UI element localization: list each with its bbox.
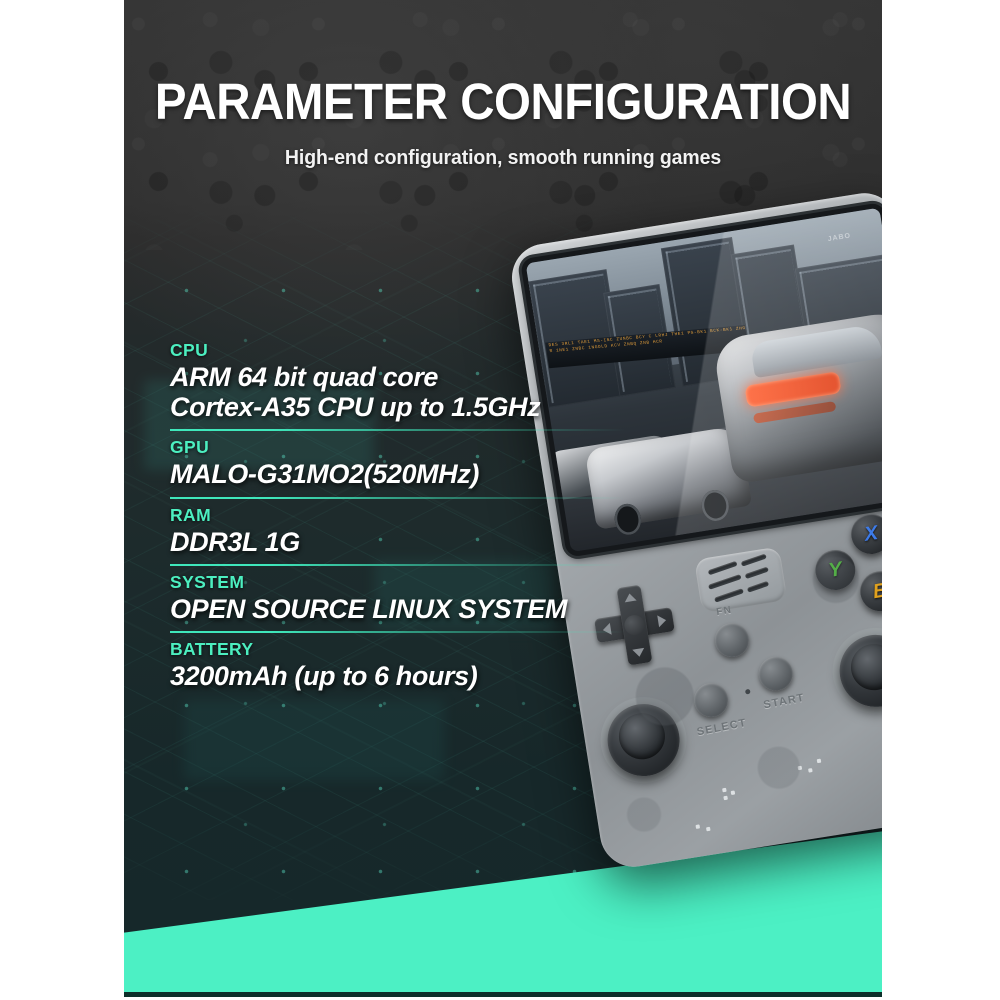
spec-label-system: SYSTEM: [170, 572, 690, 593]
button-y-label: Y: [827, 558, 844, 583]
specification-list: CPU ARM 64 bit quad core Cortex-A35 CPU …: [170, 340, 690, 697]
bottom-edge-line: [124, 992, 882, 997]
game-car-foreground: [712, 308, 882, 485]
select-button[interactable]: [692, 681, 731, 720]
spec-row-gpu: GPU MALO-G31MO2(520MHz): [170, 437, 690, 498]
spec-value-battery: 3200mAh (up to 6 hours): [170, 661, 690, 691]
billboard-text: JABO: [827, 233, 851, 244]
spec-divider: [170, 497, 625, 499]
button-b-label: B: [871, 579, 882, 604]
spec-divider: [170, 631, 625, 633]
spec-value-gpu: MALO-G31MO2(520MHz): [170, 459, 690, 489]
status-led: [745, 689, 751, 695]
action-button-cluster: X A Y B: [802, 504, 882, 655]
start-label: START: [763, 692, 806, 712]
spec-value-cpu-line1: ARM 64 bit quad core: [170, 362, 690, 392]
analog-stick-left[interactable]: [602, 699, 684, 781]
select-label: SELECT: [696, 717, 748, 738]
fn-label: FN: [716, 605, 733, 618]
spec-divider: [170, 429, 625, 431]
spec-row-ram: RAM DDR3L 1G: [170, 505, 690, 566]
button-x-label: X: [863, 522, 880, 547]
page-title: PARAMETER CONFIGURATION: [151, 76, 856, 127]
product-info-card: PARAMETER CONFIGURATION High-end configu…: [124, 0, 882, 997]
spec-value-ram: DDR3L 1G: [170, 527, 690, 557]
spec-label-battery: BATTERY: [170, 639, 690, 660]
start-button[interactable]: [756, 654, 795, 693]
spec-label-cpu: CPU: [170, 340, 690, 361]
spec-row-battery: BATTERY 3200mAh (up to 6 hours): [170, 639, 690, 691]
button-b[interactable]: B: [857, 568, 882, 614]
spec-value-system: OPEN SOURCE LINUX SYSTEM: [170, 594, 690, 624]
spec-row-system: SYSTEM OPEN SOURCE LINUX SYSTEM: [170, 572, 690, 633]
speaker-grille: [694, 547, 787, 614]
game-building: [731, 245, 814, 376]
button-x[interactable]: X: [848, 511, 882, 557]
spec-label-ram: RAM: [170, 505, 690, 526]
game-building: [795, 254, 882, 367]
page-subtitle: High-end configuration, smooth running g…: [143, 146, 863, 170]
spec-label-gpu: GPU: [170, 437, 690, 458]
spec-divider: [170, 564, 625, 566]
spec-row-cpu: CPU ARM 64 bit quad core Cortex-A35 CPU …: [170, 340, 690, 431]
analog-stick-right[interactable]: [834, 630, 882, 712]
header-block: PARAMETER CONFIGURATION High-end configu…: [124, 0, 882, 170]
spec-value-cpu-line2: Cortex-A35 CPU up to 1.5GHz: [170, 392, 690, 422]
fn-button[interactable]: [713, 621, 752, 660]
button-y[interactable]: Y: [812, 547, 858, 593]
